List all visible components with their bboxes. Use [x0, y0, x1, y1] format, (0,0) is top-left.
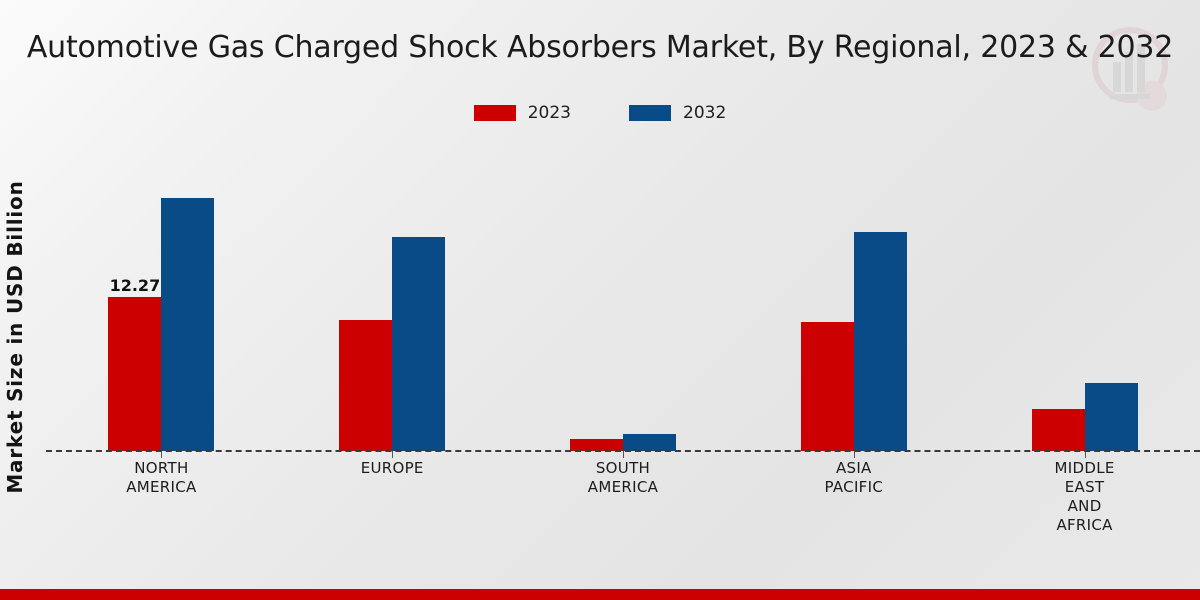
x-axis-category-label: EUROPE: [277, 459, 508, 478]
category-label-line: ASIA: [738, 459, 969, 478]
footer-accent-bar: [0, 589, 1200, 600]
category-label-line: AFRICA: [969, 516, 1200, 535]
category-label-line: EAST: [969, 478, 1200, 497]
category-label-line: SOUTH: [508, 459, 739, 478]
bar-pair: [508, 150, 739, 451]
bar-2032[interactable]: [623, 434, 676, 451]
x-axis-category-label: ASIAPACIFIC: [738, 459, 969, 497]
legend-item-2032[interactable]: 2032: [629, 103, 726, 123]
bar-pair: 12.27: [46, 150, 277, 451]
bar-2023[interactable]: [801, 322, 854, 451]
bar-group: ASIAPACIFIC: [738, 150, 969, 451]
category-label-line: AMERICA: [508, 478, 739, 497]
category-label-line: PACIFIC: [738, 478, 969, 497]
bar-pair: [738, 150, 969, 451]
x-axis-category-label: SOUTHAMERICA: [508, 459, 739, 497]
x-axis-tick: [623, 451, 624, 458]
legend-swatch-2023-icon: [474, 105, 516, 121]
bar-2032[interactable]: [161, 198, 214, 451]
bar-pair: [277, 150, 508, 451]
bar-2032[interactable]: [392, 237, 445, 451]
x-axis-baseline: [46, 450, 1200, 452]
chart-title: Automotive Gas Charged Shock Absorbers M…: [0, 30, 1200, 65]
bar-group: EUROPE: [277, 150, 508, 451]
legend-label-2032: 2032: [683, 103, 726, 123]
bar-group: 12.27NORTHAMERICA: [46, 150, 277, 451]
y-axis-title: Market Size in USD Billion: [3, 87, 27, 587]
chart-figure: Automotive Gas Charged Shock Absorbers M…: [0, 0, 1200, 600]
category-label-line: NORTH: [46, 459, 277, 478]
bar-2023[interactable]: [339, 320, 392, 451]
chart-legend: 2023 2032: [0, 103, 1200, 123]
legend-swatch-2032-icon: [629, 105, 671, 121]
bar-value-label: 12.27: [110, 276, 161, 295]
category-label-line: AND: [969, 497, 1200, 516]
x-axis-category-label: MIDDLEEASTANDAFRICA: [969, 459, 1200, 535]
x-axis-tick: [392, 451, 393, 458]
x-axis-category-label: NORTHAMERICA: [46, 459, 277, 497]
bar-groups: 12.27NORTHAMERICAEUROPESOUTHAMERICAASIAP…: [46, 150, 1200, 451]
x-axis-tick: [854, 451, 855, 458]
legend-label-2023: 2023: [528, 103, 571, 123]
bar-group: MIDDLEEASTANDAFRICA: [969, 150, 1200, 451]
bar-2023[interactable]: 12.27: [108, 297, 161, 451]
bar-pair: [969, 150, 1200, 451]
category-label-line: EUROPE: [277, 459, 508, 478]
x-axis-tick: [1085, 451, 1086, 458]
bar-2032[interactable]: [854, 232, 907, 451]
bar-group: SOUTHAMERICA: [508, 150, 739, 451]
category-label-line: MIDDLE: [969, 459, 1200, 478]
legend-item-2023[interactable]: 2023: [474, 103, 571, 123]
plot-area: 12.27NORTHAMERICAEUROPESOUTHAMERICAASIAP…: [46, 150, 1200, 452]
bar-2032[interactable]: [1085, 383, 1138, 451]
category-label-line: AMERICA: [46, 478, 277, 497]
bar-2023[interactable]: [1032, 409, 1085, 451]
x-axis-tick: [161, 451, 162, 458]
